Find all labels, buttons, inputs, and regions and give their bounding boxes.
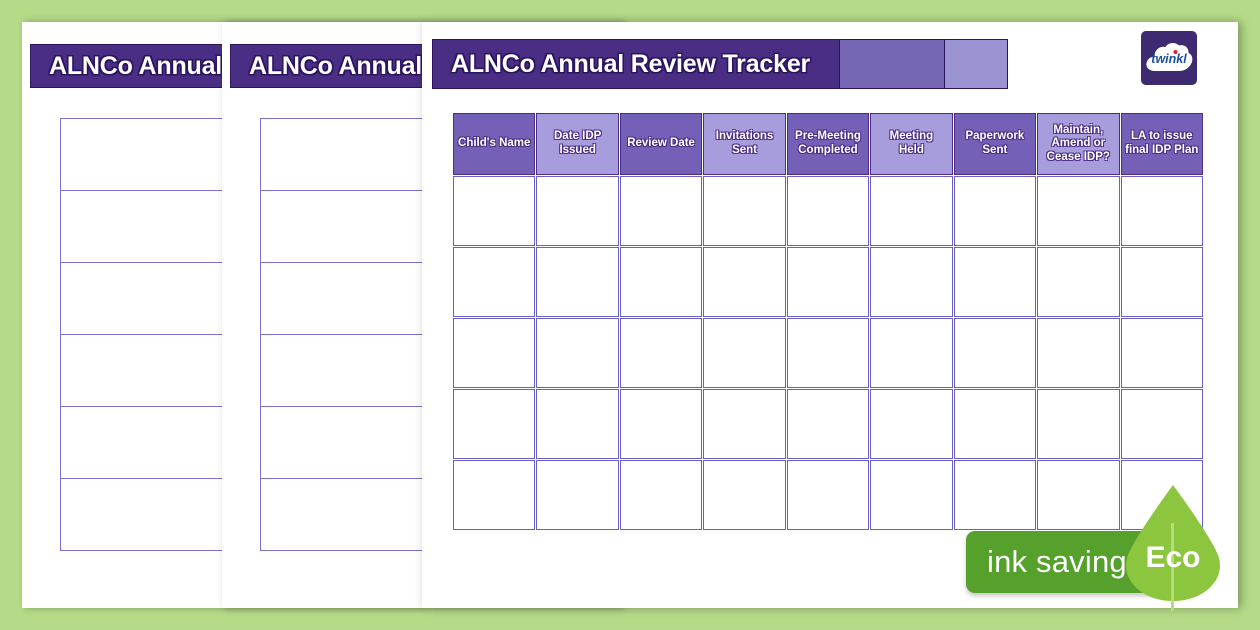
cell-maintain-amend-cease[interactable] xyxy=(1037,318,1119,388)
cell-date-idp-issued[interactable] xyxy=(536,247,618,317)
header-line: Pre-Meeting xyxy=(795,130,861,142)
cell-paperwork-sent[interactable] xyxy=(954,318,1036,388)
page-title-bar: ALNCo Annual Review Tracker xyxy=(432,39,1008,89)
ink-saving-label: ink saving xyxy=(987,544,1127,580)
table-row xyxy=(453,318,1203,388)
table-row xyxy=(453,389,1203,459)
header-line: Issued xyxy=(559,144,595,156)
grid-cell[interactable] xyxy=(61,119,238,191)
cell-meeting-held[interactable] xyxy=(870,389,952,459)
cell-invitations-sent[interactable] xyxy=(703,318,785,388)
cell-date-idp-issued[interactable] xyxy=(536,176,618,246)
column-header-date-idp-issued: Date IDP Issued xyxy=(536,113,618,175)
header-line: Held xyxy=(899,144,924,156)
cell-invitations-sent[interactable] xyxy=(703,389,785,459)
header-line: Invitations xyxy=(716,130,774,142)
cell-childs-name[interactable] xyxy=(453,176,535,246)
cell-review-date[interactable] xyxy=(620,318,702,388)
cell-meeting-held[interactable] xyxy=(870,318,952,388)
cell-pre-meeting-completed[interactable] xyxy=(787,389,869,459)
cell-la-final-idp-plan[interactable] xyxy=(1121,247,1204,317)
cell-paperwork-sent[interactable] xyxy=(954,460,1036,530)
cell-la-final-idp-plan[interactable] xyxy=(1121,176,1204,246)
header-row: Child's Name Date IDP Issued Review Date… xyxy=(453,113,1203,175)
grid-cell[interactable] xyxy=(61,191,238,263)
cell-paperwork-sent[interactable] xyxy=(954,389,1036,459)
header-line: Date IDP xyxy=(554,130,601,142)
column-header-invitations-sent: Invitations Sent xyxy=(703,113,785,175)
page-title-back-1: ALNCo Annual xyxy=(49,52,222,81)
title-bar: ALNCo Annual Review Tracker xyxy=(432,39,840,89)
cell-date-idp-issued[interactable] xyxy=(536,389,618,459)
cell-pre-meeting-completed[interactable] xyxy=(787,247,869,317)
cell-childs-name[interactable] xyxy=(453,247,535,317)
page-title-back-2: ALNCo Annual xyxy=(249,52,422,81)
column-header-la-final-idp-plan: LA to issue final IDP Plan xyxy=(1121,113,1204,175)
cell-pre-meeting-completed[interactable] xyxy=(787,176,869,246)
column-header-meeting-held: Meeting Held xyxy=(870,113,952,175)
cell-maintain-amend-cease[interactable] xyxy=(1037,247,1119,317)
screenshot-root: ALNCo Annual ALNCo Annual xyxy=(0,0,1260,630)
header-line: Maintain, xyxy=(1053,124,1103,136)
ink-saving-eco-badge: ink saving Eco xyxy=(966,531,1236,593)
header-line: Child's Name xyxy=(458,137,530,149)
cell-date-idp-issued[interactable] xyxy=(536,460,618,530)
column-header-review-date: Review Date xyxy=(620,113,702,175)
cell-pre-meeting-completed[interactable] xyxy=(787,318,869,388)
header-line: Sent xyxy=(982,144,1007,156)
cell-pre-meeting-completed[interactable] xyxy=(787,460,869,530)
decor-block-light xyxy=(945,39,1008,89)
cell-invitations-sent[interactable] xyxy=(703,176,785,246)
grid-cell[interactable] xyxy=(261,407,438,479)
header-line: Amend or xyxy=(1051,137,1105,149)
cell-childs-name[interactable] xyxy=(453,460,535,530)
grid-cell[interactable] xyxy=(61,263,238,335)
cell-meeting-held[interactable] xyxy=(870,176,952,246)
cell-maintain-amend-cease[interactable] xyxy=(1037,176,1119,246)
header-line: LA to issue xyxy=(1131,130,1193,142)
header-line: final IDP Plan xyxy=(1125,144,1198,156)
review-tracker-table: Child's Name Date IDP Issued Review Date… xyxy=(452,112,1204,531)
column-header-childs-name: Child's Name xyxy=(453,113,535,175)
twinkl-logo[interactable]: twinkl xyxy=(1141,31,1197,85)
grid-cell[interactable] xyxy=(61,407,238,479)
cell-childs-name[interactable] xyxy=(453,318,535,388)
page-title: ALNCo Annual Review Tracker xyxy=(451,50,810,79)
header-line: Cease IDP? xyxy=(1047,151,1110,163)
grid-cell[interactable] xyxy=(261,191,438,263)
grid-cell[interactable] xyxy=(61,479,238,551)
cell-paperwork-sent[interactable] xyxy=(954,176,1036,246)
table-row xyxy=(453,176,1203,246)
cell-meeting-held[interactable] xyxy=(870,460,952,530)
cell-review-date[interactable] xyxy=(620,460,702,530)
cell-invitations-sent[interactable] xyxy=(703,460,785,530)
column-header-maintain-amend-cease: Maintain, Amend or Cease IDP? xyxy=(1037,113,1119,175)
grid-cell[interactable] xyxy=(261,263,438,335)
cell-review-date[interactable] xyxy=(620,247,702,317)
column-header-paperwork-sent: Paperwork Sent xyxy=(954,113,1036,175)
cloud-icon: twinkl xyxy=(1144,41,1194,75)
header-line: Completed xyxy=(798,144,857,156)
grid-cell[interactable] xyxy=(261,479,438,551)
header-line: Review Date xyxy=(627,137,695,149)
cell-la-final-idp-plan[interactable] xyxy=(1121,318,1204,388)
grid-cell[interactable] xyxy=(61,335,238,407)
cell-review-date[interactable] xyxy=(620,176,702,246)
cell-maintain-amend-cease[interactable] xyxy=(1037,460,1119,530)
eco-label: Eco xyxy=(1110,541,1236,575)
column-header-pre-meeting-completed: Pre-Meeting Completed xyxy=(787,113,869,175)
cell-childs-name[interactable] xyxy=(453,389,535,459)
table-body xyxy=(453,176,1203,530)
cell-date-idp-issued[interactable] xyxy=(536,318,618,388)
svg-text:twinkl: twinkl xyxy=(1151,52,1187,66)
table-header: Child's Name Date IDP Issued Review Date… xyxy=(453,113,1203,175)
cell-invitations-sent[interactable] xyxy=(703,247,785,317)
header-line: Paperwork xyxy=(965,130,1024,142)
table-row xyxy=(453,247,1203,317)
table-row xyxy=(453,460,1203,530)
leaf-icon: Eco xyxy=(1110,483,1236,611)
cell-meeting-held[interactable] xyxy=(870,247,952,317)
cell-maintain-amend-cease[interactable] xyxy=(1037,389,1119,459)
grid-cell[interactable] xyxy=(261,119,438,191)
cell-paperwork-sent[interactable] xyxy=(954,247,1036,317)
cell-la-final-idp-plan[interactable] xyxy=(1121,389,1204,459)
cell-review-date[interactable] xyxy=(620,389,702,459)
header-line: Meeting xyxy=(890,130,933,142)
grid-cell[interactable] xyxy=(261,335,438,407)
decor-block-mid xyxy=(840,39,945,89)
header-line: Sent xyxy=(732,144,757,156)
